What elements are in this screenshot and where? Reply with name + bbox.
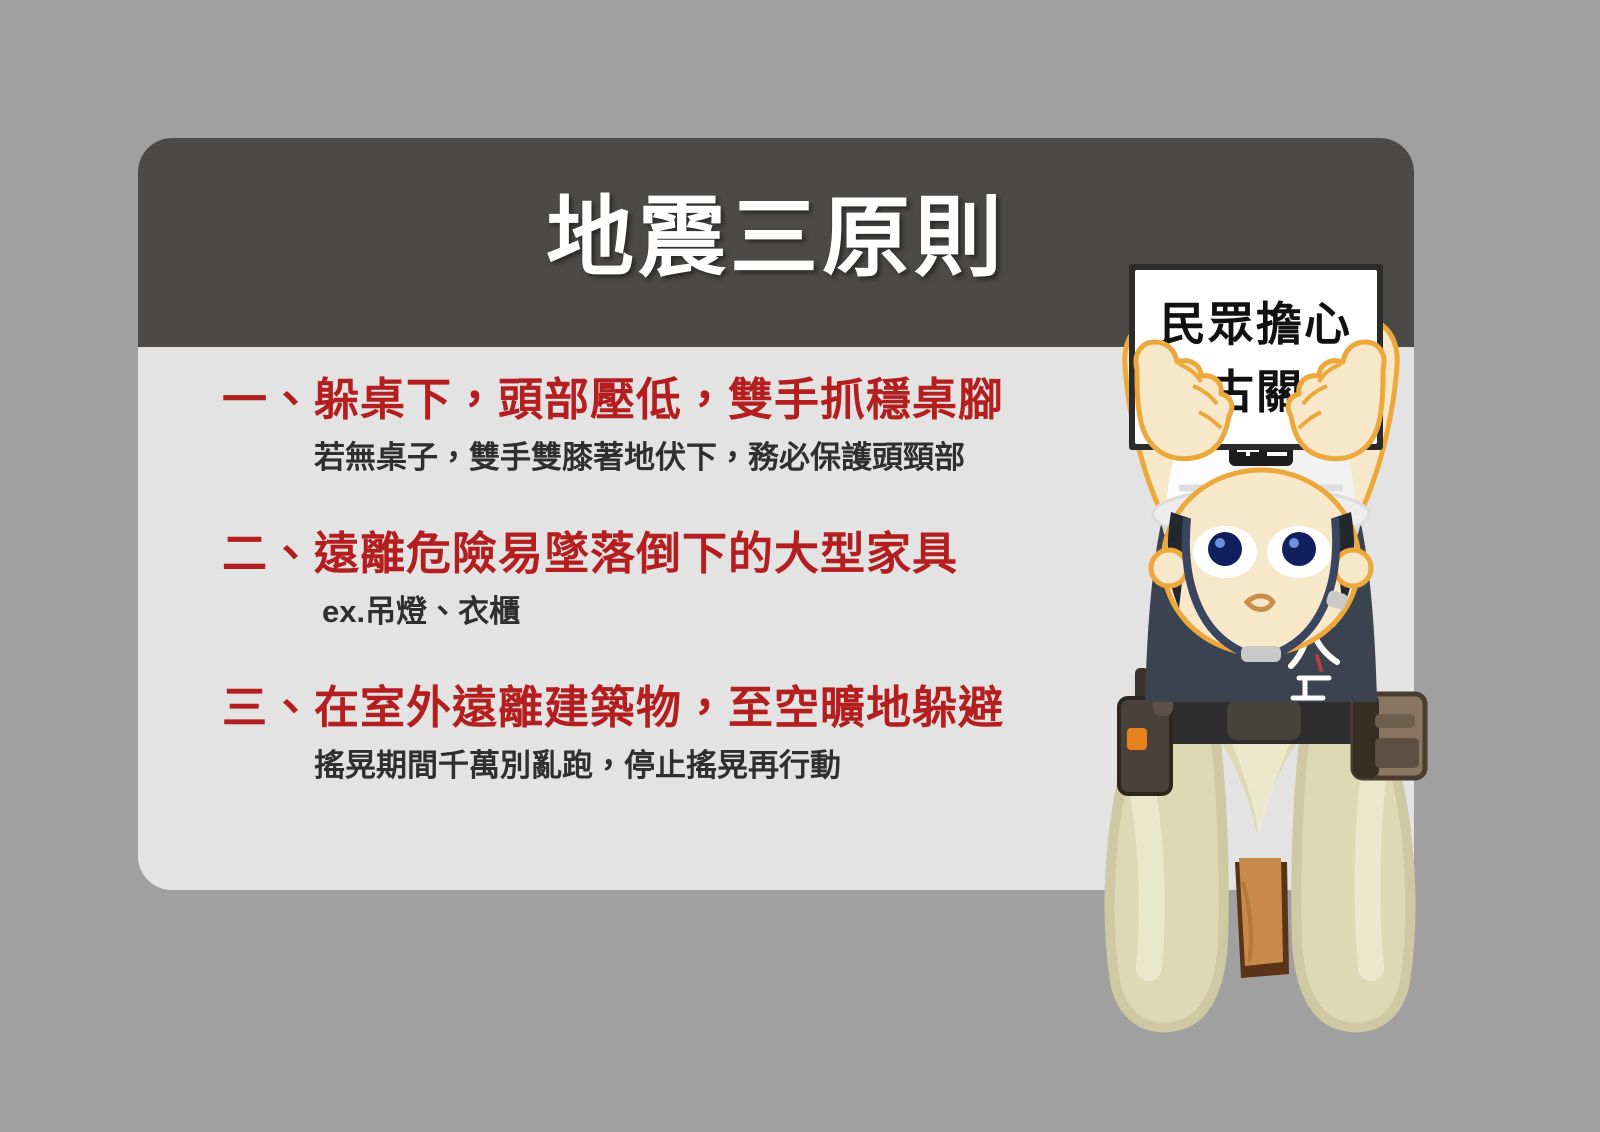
mascot-worker-illustration: 民眾擔心 太古關心 — [1075, 262, 1445, 1037]
list-item: 二、遠離危險易墜落倒下的大型家具 ex.吊燈、衣櫃 — [222, 525, 1182, 635]
principle-heading: 二、遠離危險易墜落倒下的大型家具 — [222, 525, 1182, 583]
tool-pouch-icon — [1353, 694, 1425, 778]
boot-icon — [1235, 858, 1289, 978]
principle-subtext: 若無桌子，雙手雙膝著地伏下，務必保護頭頸部 — [222, 435, 1182, 481]
list-item: 三、在室外遠離建築物，至空曠地躲避 搖晃期間千萬別亂跑，停止搖晃再行動 — [222, 679, 1182, 789]
principle-subtext: 搖晃期間千萬別亂跑，停止搖晃再行動 — [222, 743, 1182, 789]
principles-list: 一、躲桌下，頭部壓低，雙手抓穩桌腳 若無桌子，雙手雙膝著地伏下，務必保護頭頸部 … — [222, 371, 1182, 789]
sign-line-1: 民眾擔心 — [1160, 298, 1352, 350]
principle-heading: 一、躲桌下，頭部壓低，雙手抓穩桌腳 — [222, 371, 1182, 429]
list-item: 一、躲桌下，頭部壓低，雙手抓穩桌腳 若無桌子，雙手雙膝著地伏下，務必保護頭頸部 — [222, 371, 1182, 481]
poster-root: 地震三原則 一、躲桌下，頭部壓低，雙手抓穩桌腳 若無桌子，雙手雙膝著地伏下，務必… — [0, 0, 1600, 1132]
principle-subtext: ex.吊燈、衣櫃 — [222, 589, 1182, 635]
principle-heading: 三、在室外遠離建築物，至空曠地躲避 — [222, 679, 1182, 737]
belt — [1145, 698, 1377, 744]
